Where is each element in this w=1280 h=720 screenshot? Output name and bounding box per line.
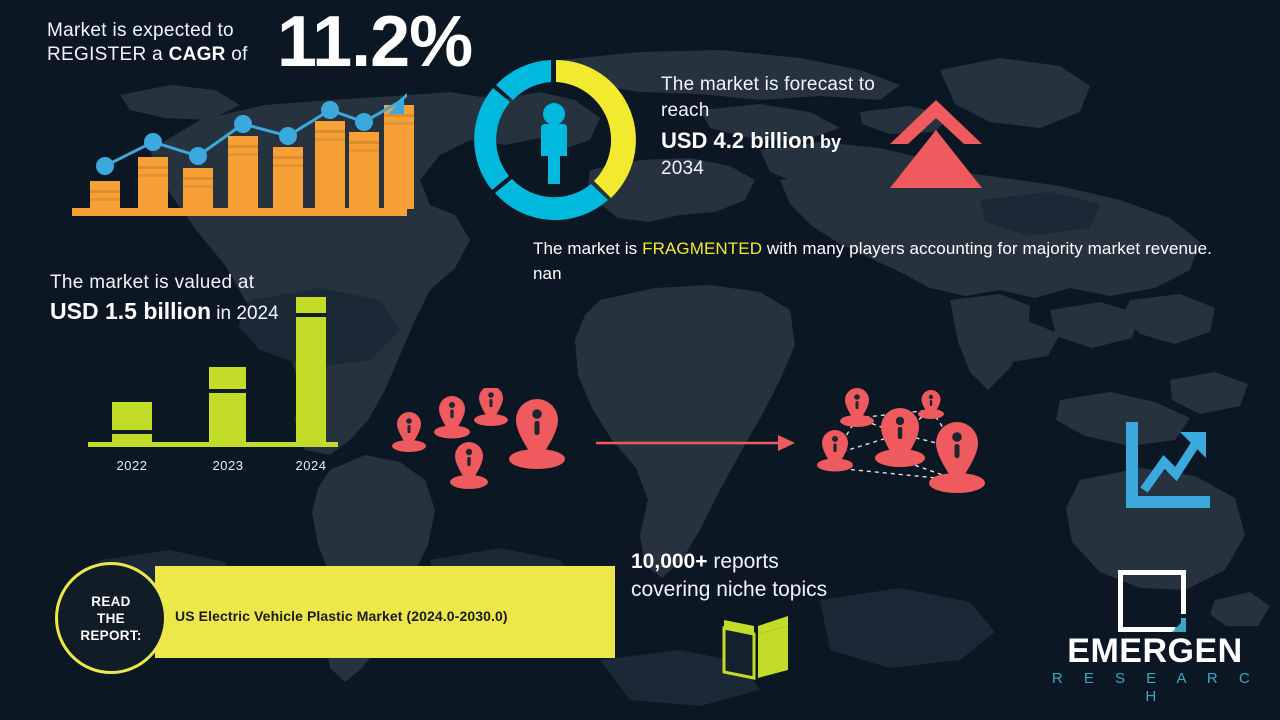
read-report-label: READ THE REPORT: bbox=[80, 593, 141, 644]
up-arrow-icon bbox=[886, 96, 986, 192]
growth-chart-icon bbox=[1122, 422, 1210, 510]
forecast-block: The market is forecast to reach USD 4.2 … bbox=[661, 72, 886, 181]
transition-arrow-icon bbox=[596, 432, 796, 454]
fragmented-highlight: FRAGMENTED bbox=[642, 239, 762, 258]
cta-line-3: REPORT: bbox=[80, 628, 141, 643]
green-chart-baseline bbox=[88, 442, 338, 447]
axis-label-2023: 2023 bbox=[198, 458, 258, 473]
cta-line-2: THE bbox=[97, 611, 125, 626]
logo-subtitle: R E S E A R C H bbox=[1050, 670, 1260, 706]
read-report-badge[interactable]: READ THE REPORT: bbox=[55, 562, 167, 674]
market-value-label: The market is valued at bbox=[50, 272, 380, 294]
cagr-line-2: REGISTER a CAGR of bbox=[47, 44, 248, 66]
fragmented-pre: The market is bbox=[533, 239, 642, 258]
read-the-report-cta[interactable]: US Electric Vehicle Plastic Market (2024… bbox=[55, 562, 565, 662]
scattered-location-pins bbox=[385, 388, 580, 493]
cta-line-1: READ bbox=[91, 594, 130, 609]
cagr-keyword: CAGR bbox=[169, 44, 226, 65]
networked-location-pins bbox=[805, 388, 1015, 503]
forecast-by: by bbox=[815, 132, 841, 152]
market-value-chart: 2022 2023 2024 bbox=[88, 295, 338, 473]
cagr-value: 11.2% bbox=[277, 6, 472, 78]
report-title-text: US Electric Vehicle Plastic Market (2024… bbox=[175, 608, 508, 624]
value-bar-2023 bbox=[209, 367, 246, 442]
value-bar-2022 bbox=[112, 402, 152, 442]
forecast-year: 2034 bbox=[661, 157, 886, 181]
reports-count-value: 10,000+ bbox=[631, 550, 708, 573]
forecast-amount: USD 4.2 billion bbox=[661, 128, 815, 153]
logo-mark-icon bbox=[1118, 570, 1186, 632]
axis-label-2022: 2022 bbox=[102, 458, 162, 473]
cagr-line2-post: of bbox=[226, 44, 248, 65]
market-share-donut-chart bbox=[462, 50, 647, 230]
forecast-label: The market is forecast to reach bbox=[661, 72, 886, 124]
emergen-research-logo: EMERGEN R E S E A R C H bbox=[1050, 570, 1260, 700]
cagr-block: Market is expected to REGISTER a CAGR of… bbox=[47, 20, 467, 90]
forecast-value: USD 4.2 billion by bbox=[661, 126, 886, 157]
infographic-canvas: Market is expected to REGISTER a CAGR of… bbox=[0, 0, 1280, 720]
trend-line bbox=[72, 88, 407, 218]
fragmentation-statement: The market is FRAGMENTED with many playe… bbox=[533, 236, 1213, 286]
reports-count-block: 10,000+ reports covering niche topics bbox=[631, 548, 931, 604]
growth-trend-chart bbox=[72, 88, 407, 218]
value-bar-2024 bbox=[296, 297, 326, 442]
reports-subtitle: covering niche topics bbox=[631, 576, 931, 604]
logo-wordmark: EMERGEN bbox=[1050, 632, 1260, 670]
axis-label-2024: 2024 bbox=[281, 458, 341, 473]
cagr-line-1: Market is expected to bbox=[47, 20, 234, 42]
reports-count-line: 10,000+ reports bbox=[631, 548, 931, 576]
reports-count-suffix: reports bbox=[708, 550, 779, 573]
cagr-line2-pre: REGISTER a bbox=[47, 44, 169, 65]
open-book-icon bbox=[716, 612, 796, 680]
